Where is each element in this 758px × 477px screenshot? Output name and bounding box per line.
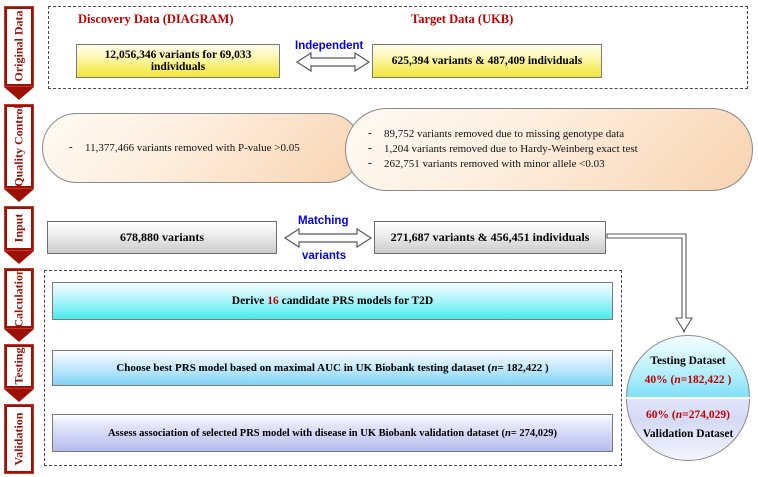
testing-dataset-stats: 40% (n=182,422 ) <box>627 373 749 388</box>
stage-label-input: Input <box>4 206 34 264</box>
target-qc-pill: 89,752 variants removed due to missing g… <box>345 108 753 191</box>
target-original-box: 625,394 variants & 487,409 individuals <box>372 44 602 78</box>
calculation-box: Derive 16 candidate PRS models for T2D <box>52 282 613 320</box>
matching-variants-double-arrow <box>285 229 371 247</box>
matching-connector-label-top: Matching <box>298 215 348 227</box>
stage-label-text: Validation <box>12 413 26 466</box>
testing-text: Choose best PRS model based on maximal A… <box>116 362 548 374</box>
prs-model-count: 16 <box>267 295 279 307</box>
stage-label-text: Calculation <box>12 268 26 327</box>
discovery-input-box: 678,880 variants <box>47 221 277 254</box>
stage-label-text: Input <box>12 214 26 243</box>
validation-dataset-stats: 60% (n=274,029) <box>627 408 749 423</box>
target-data-heading: Target Data (UKB) <box>411 12 513 27</box>
validation-dataset-half: 60% (n=274,029) Validation Dataset <box>626 399 750 461</box>
stage-label-text: Original Data <box>12 11 26 82</box>
independent-connector-label: Independent <box>295 40 363 52</box>
qc-item: 1,204 variants removed due to Hardy-Wein… <box>368 142 736 157</box>
validation-text: Assess association of selected PRS model… <box>108 428 557 439</box>
testing-dataset-title: Testing Dataset <box>627 354 749 369</box>
discovery-original-box: 12,056,346 variants for 69,033 individua… <box>76 44 280 78</box>
testing-dataset-half: Testing Dataset 40% (n=182,422 ) <box>626 335 750 397</box>
stage-label-testing: Testing <box>4 344 34 402</box>
target-input-box: 271,687 variants & 456,451 individuals <box>374 221 606 254</box>
matching-connector-label-bottom: variants <box>302 250 346 262</box>
qc-item: 11,377,466 variants removed with P-value… <box>69 141 345 156</box>
flowchart-canvas: Original Data Quality Control Input Calc… <box>0 0 758 477</box>
qc-item: 89,752 variants removed due to missing g… <box>368 127 736 142</box>
qc-item: 262,751 variants removed with minor alle… <box>368 157 736 172</box>
stage-label-validation: Validation <box>4 404 34 474</box>
stage-label-quality-control: Quality Control <box>4 104 34 202</box>
validation-box: Assess association of selected PRS model… <box>52 414 613 452</box>
stage-label-calculation: Calculation <box>4 268 34 342</box>
stage-label-original-data: Original Data <box>4 6 34 100</box>
discovery-data-heading: Discovery Data (DIAGRAM) <box>78 12 234 27</box>
target-qc-items: 89,752 variants removed due to missing g… <box>346 127 752 172</box>
discovery-qc-pill: 11,377,466 variants removed with P-value… <box>42 113 362 183</box>
stage-label-text: Testing <box>12 348 26 385</box>
stage-label-text: Quality Control <box>12 105 26 186</box>
calculation-text: Derive 16 candidate PRS models for T2D <box>232 295 433 307</box>
discovery-qc-items: 11,377,466 variants removed with P-value… <box>43 141 361 156</box>
validation-dataset-title: Validation Dataset <box>627 427 749 442</box>
testing-box: Choose best PRS model based on maximal A… <box>52 350 613 386</box>
